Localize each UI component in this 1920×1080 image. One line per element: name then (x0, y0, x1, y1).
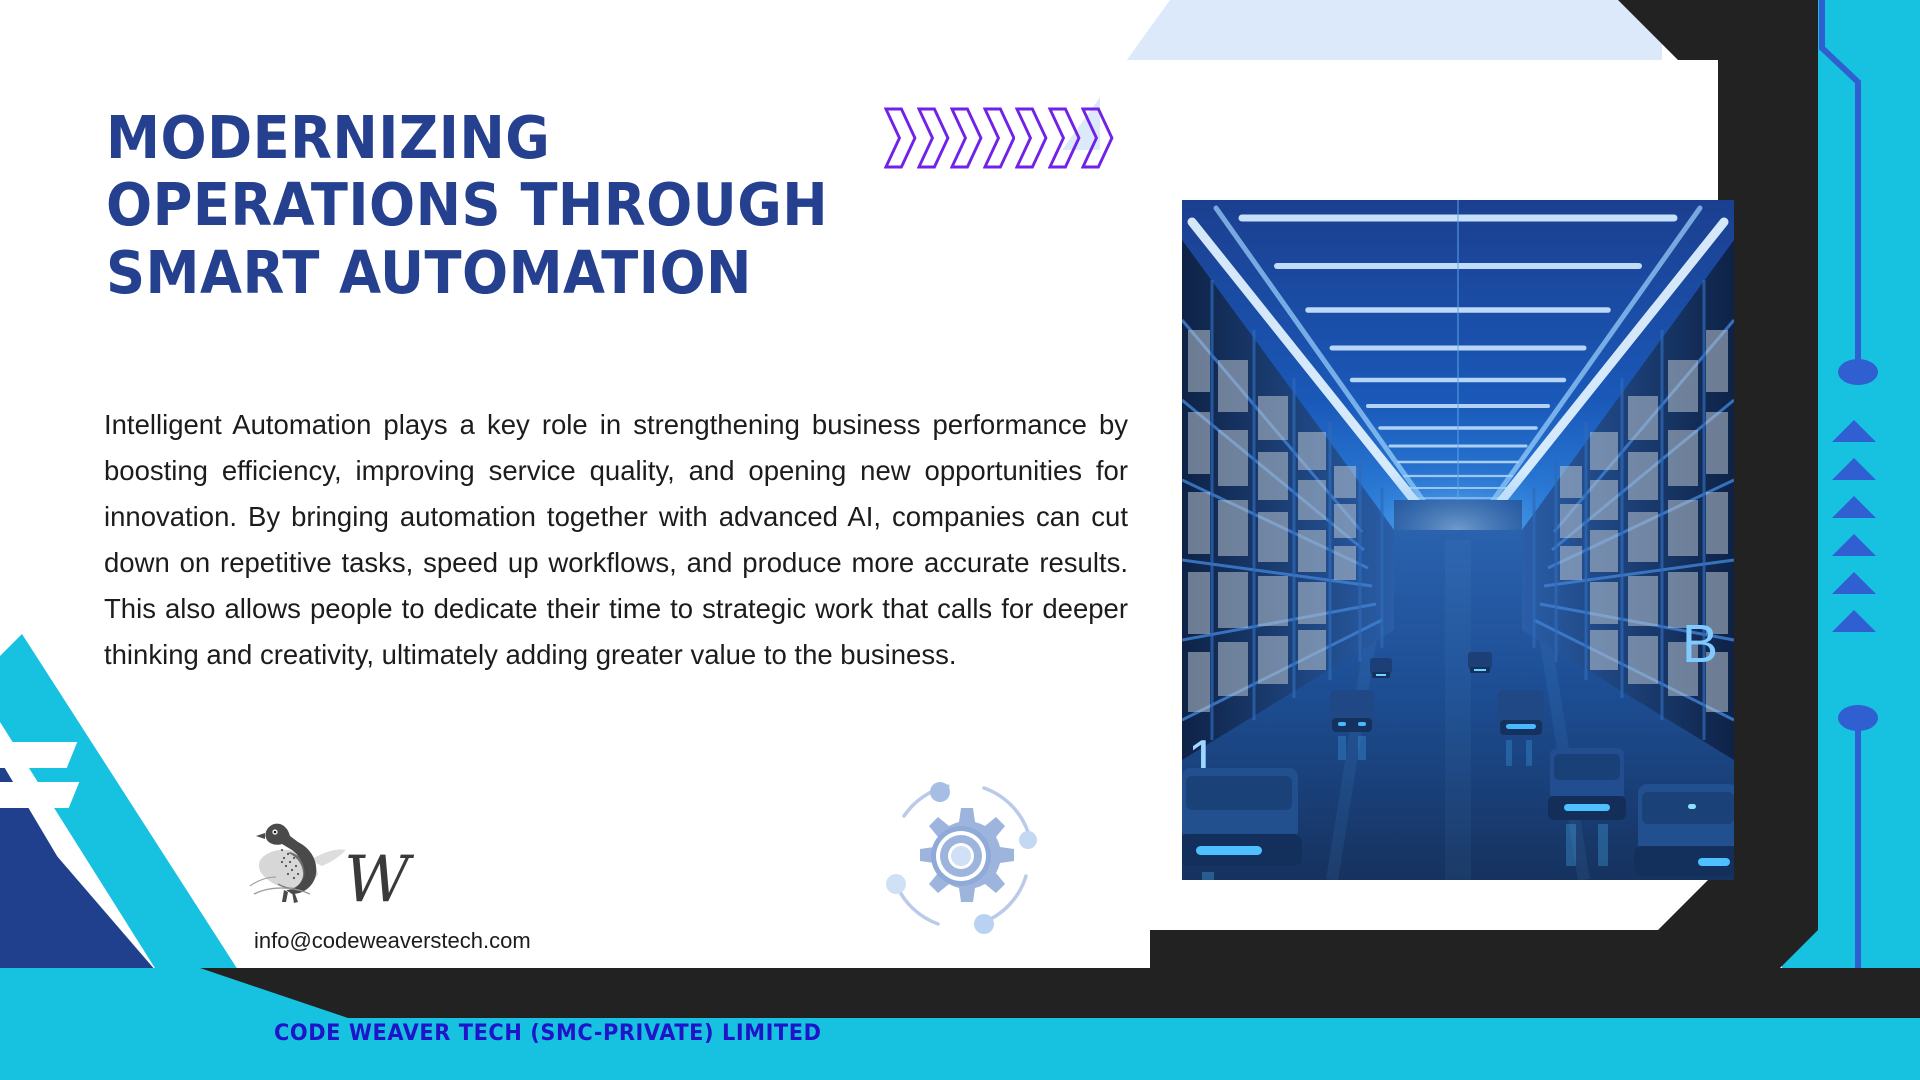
orbit-dot-icon (886, 874, 906, 894)
agv-robot (1370, 658, 1392, 678)
page-title: Modernizing Operations Through Smart Aut… (106, 104, 980, 306)
page-title-line-1: Modernizing (106, 104, 980, 171)
page-title-line-2: Operations Through (106, 171, 980, 238)
orbit-dot-icon (930, 782, 950, 802)
triangle-up-icon (1832, 610, 1876, 632)
warehouse-illustration: 1 (1182, 200, 1734, 880)
white-accent-bar (0, 782, 79, 808)
footer-company-name: Code Weaver Tech (SMC-Private) Limited (274, 1021, 822, 1046)
triangle-up-icon (1832, 458, 1876, 480)
circuit-node-icon (1838, 359, 1878, 385)
agv-robot (1468, 652, 1492, 673)
body-paragraph: Intelligent Automation plays a key role … (104, 402, 1128, 678)
chevron-right-outline-icon (1048, 105, 1081, 171)
chevron-right-outline-icon (1015, 105, 1048, 171)
brand-logo-block: W info@codeweaverstech.com (248, 800, 568, 950)
orbit-dot-icon (1019, 831, 1037, 849)
shelf-label-right: B (1682, 614, 1718, 674)
triangle-up-icon (1832, 496, 1876, 518)
slide-canvas: Modernizing Operations Through Smart Aut… (0, 0, 1920, 1080)
chevron-right-outline-icon (1081, 105, 1114, 171)
triangle-up-icon (1832, 534, 1876, 556)
logo-wordmark-letter: W (344, 848, 410, 912)
contact-email[interactable]: info@codeweaverstech.com (254, 928, 531, 954)
triangle-up-icon (1832, 420, 1876, 442)
triangle-up-icon (1832, 572, 1876, 594)
gear-automation-icon (876, 772, 1046, 940)
circuit-line-top (1822, 0, 1858, 360)
warehouse-photo: 1 (1182, 200, 1734, 880)
white-accent-bar (0, 742, 77, 768)
agv-robot (1182, 768, 1302, 880)
page-title-line-3: Smart Automation (106, 239, 980, 306)
chevron-right-outline-icon (983, 105, 1016, 171)
orbit-dot-icon (974, 914, 994, 934)
agv-robot (1634, 784, 1734, 876)
circuit-node-icon (1838, 705, 1878, 731)
